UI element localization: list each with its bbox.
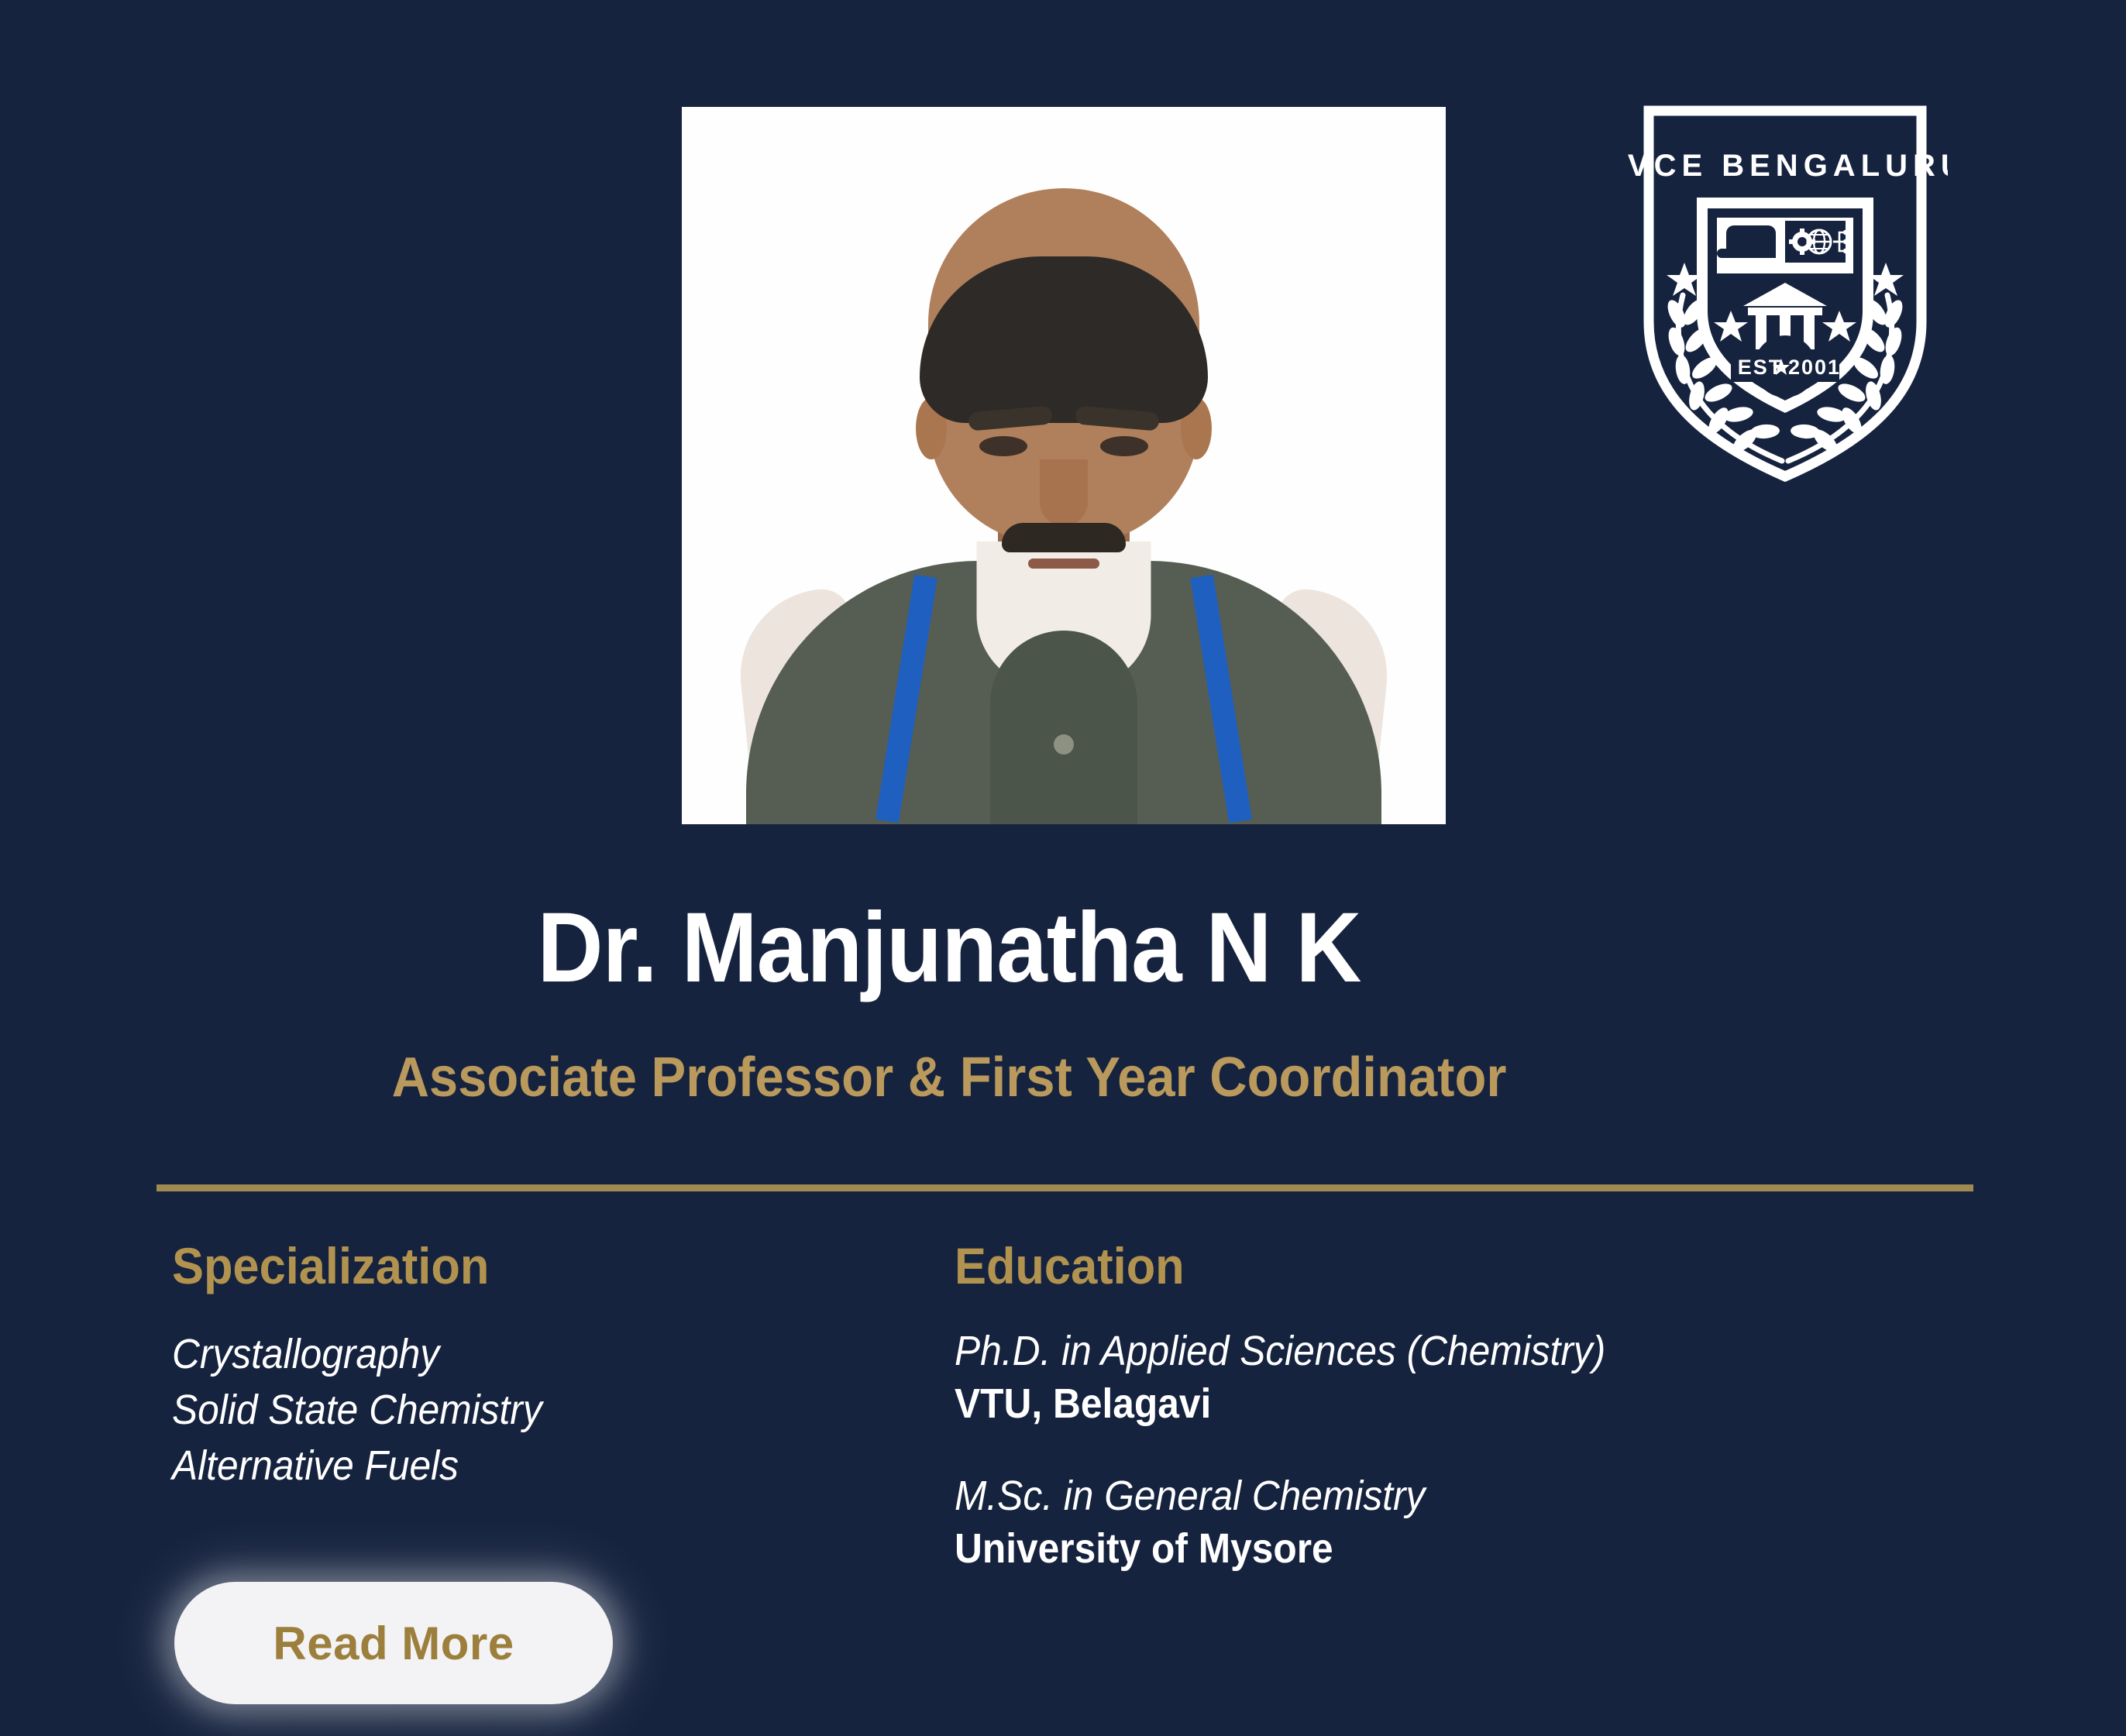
section-divider [157,1184,1973,1191]
list-item: Alternative Fuels [172,1439,856,1494]
svce-bengaluru-crest-logo: SVCE BENGALURU [1622,89,1948,492]
education-entry: Ph.D. in Applied Sciences (Chemistry) VT… [955,1325,1962,1430]
vest-opening [990,631,1137,824]
faculty-name: Dr. Manjunatha N K [76,899,1822,998]
nose [1040,459,1088,526]
education-heading: Education [955,1239,1891,1293]
specialization-heading: Specialization [172,1239,864,1293]
education-degree: Ph.D. in Applied Sciences (Chemistry) [955,1325,1881,1378]
education-entry: M.Sc. in General Chemistry University of… [955,1470,1962,1575]
education-degree: M.Sc. in General Chemistry [955,1470,1881,1523]
portrait-canvas [682,107,1446,824]
specialization-section: Specialization Crystallography Solid Sta… [172,1239,916,1494]
faculty-profile-card: SVCE BENGALURU [0,0,2126,1736]
list-item: Solid State Chemistry [172,1383,856,1439]
hair [920,256,1208,423]
vest-button [1054,734,1074,755]
specialization-list: Crystallography Solid State Chemistry Al… [172,1327,916,1494]
faculty-designation: Associate Professor & First Year Coordin… [67,1050,1832,1105]
mouth [1028,559,1099,569]
education-institution: University of Mysore [955,1523,1881,1576]
head [928,188,1199,545]
list-item: Crystallography [172,1327,856,1383]
eye-right [1100,436,1148,456]
education-institution: VTU, Belagavi [955,1378,1881,1431]
moustache [1002,523,1126,552]
est-year: 2001 [1788,356,1841,379]
gear-globe-circuit-icon [1785,221,1848,263]
faculty-portrait [682,107,1446,824]
crest-arc-text: SVCE BENGALURU [1622,149,1948,183]
eye-left [979,436,1027,456]
education-section: Education Ph.D. in Applied Sciences (Che… [955,1239,1962,1575]
read-more-button[interactable]: Read More [174,1582,613,1704]
